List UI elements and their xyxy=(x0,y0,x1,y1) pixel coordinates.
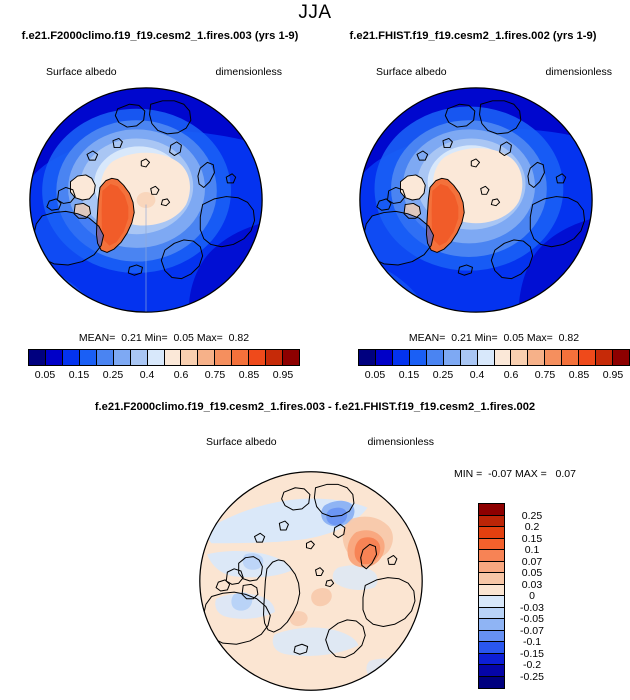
colorbar-band xyxy=(613,350,629,365)
panel-left: Surface albedo dimensionless xyxy=(28,66,300,314)
colorbar-band xyxy=(266,350,283,365)
colorbar-tick-label: 0.05 xyxy=(35,369,55,381)
panel-left-units-label: dimensionless xyxy=(215,66,282,78)
colorbar-tick-label: -0.2 xyxy=(509,659,555,671)
colorbar-band xyxy=(29,350,46,365)
colorbar-band xyxy=(80,350,97,365)
panel-difference: Surface albedo dimensionless xyxy=(190,436,440,692)
colorbar-tick-label: 0.75 xyxy=(535,369,555,381)
colorbar-left-ticks: 0.050.150.250.40.60.750.850.95 xyxy=(28,369,300,384)
colorbar-tick-label: 0.15 xyxy=(509,533,555,545)
colorbar-tick-label: 0.85 xyxy=(569,369,589,381)
colorbar-left[interactable] xyxy=(28,349,300,366)
map-difference[interactable] xyxy=(198,470,440,692)
colorbar-band xyxy=(215,350,232,365)
case-title-left: f.e21.F2000climo.f19_f19.cesm2_1.fires.0… xyxy=(2,30,318,42)
colorbar-tick-label: 0.2 xyxy=(509,521,555,533)
colorbar-band xyxy=(479,585,504,597)
colorbar-band xyxy=(461,350,478,365)
map-right-svg xyxy=(358,86,594,314)
colorbar-tick-label: 0.15 xyxy=(399,369,419,381)
colorbar-tick-label: 0.1 xyxy=(509,544,555,556)
colorbar-band xyxy=(479,665,504,677)
colorbar-tick-label: -0.15 xyxy=(509,648,555,660)
panel-left-variable-label: Surface albedo xyxy=(46,66,117,78)
panel-diff-variable-label: Surface albedo xyxy=(206,436,277,448)
colorbar-tick-label: 0.25 xyxy=(509,510,555,522)
colorbar-band xyxy=(479,539,504,551)
colorbar-band xyxy=(479,642,504,654)
colorbar-tick-label: 0.95 xyxy=(273,369,293,381)
panel-right-variable-label: Surface albedo xyxy=(376,66,447,78)
map-left[interactable] xyxy=(28,86,300,314)
colorbar-right[interactable] xyxy=(358,349,630,366)
colorbar-band xyxy=(393,350,410,365)
stats-left: MEAN= 0.21 Min= 0.05 Max= 0.82 xyxy=(28,332,300,344)
colorbar-tick-label: 0.05 xyxy=(365,369,385,381)
colorbar-tick-label: 0.75 xyxy=(205,369,225,381)
colorbar-band xyxy=(376,350,393,365)
map-left-svg xyxy=(28,86,264,314)
colorbar-band xyxy=(528,350,545,365)
colorbar-band xyxy=(63,350,80,365)
colorbar-band xyxy=(479,631,504,643)
colorbar-band xyxy=(479,527,504,539)
colorbar-tick-label: 0.4 xyxy=(140,369,155,381)
colorbar-band xyxy=(46,350,63,365)
colorbar-tick-label: -0.1 xyxy=(509,636,555,648)
colorbar-tick-label: 0.03 xyxy=(509,579,555,591)
colorbar-band xyxy=(511,350,528,365)
colorbar-band xyxy=(545,350,562,365)
season-title: JJA xyxy=(0,2,630,24)
stats-right: MEAN= 0.21 Min= 0.05 Max= 0.82 xyxy=(358,332,630,344)
colorbar-tick-label: 0.25 xyxy=(433,369,453,381)
colorbar-band xyxy=(114,350,131,365)
panel-right-head: Surface albedo dimensionless xyxy=(358,66,630,82)
colorbar-group-left: MEAN= 0.21 Min= 0.05 Max= 0.82 0.050.150… xyxy=(28,332,300,384)
difference-title: f.e21.F2000climo.f19_f19.cesm2_1.fires.0… xyxy=(0,401,630,413)
colorbar-tick-label: 0.85 xyxy=(239,369,259,381)
colorbar-band xyxy=(579,350,596,365)
colorbar-tick-label: 0.4 xyxy=(470,369,485,381)
colorbar-tick-label: -0.05 xyxy=(509,613,555,625)
colorbar-group-right: MEAN= 0.21 Min= 0.05 Max= 0.82 0.050.150… xyxy=(358,332,630,384)
colorbar-band xyxy=(479,550,504,562)
colorbar-band xyxy=(131,350,148,365)
panel-right-units-label: dimensionless xyxy=(545,66,612,78)
colorbar-band xyxy=(479,504,504,516)
colorbar-band xyxy=(198,350,215,365)
colorbar-band xyxy=(495,350,512,365)
colorbar-tick-label: 0.6 xyxy=(504,369,519,381)
panel-diff-units-label: dimensionless xyxy=(367,436,434,448)
colorbar-right-ticks: 0.050.150.250.40.60.750.850.95 xyxy=(358,369,630,384)
colorbar-band xyxy=(249,350,266,365)
colorbar-tick-label: -0.07 xyxy=(509,625,555,637)
colorbar-band xyxy=(479,608,504,620)
colorbar-band xyxy=(359,350,376,365)
colorbar-band xyxy=(479,562,504,574)
colorbar-band xyxy=(427,350,444,365)
colorbar-tick-label: 0 xyxy=(509,590,555,602)
colorbar-tick-label: 0.07 xyxy=(509,556,555,568)
colorbar-band xyxy=(479,573,504,585)
colorbar-band xyxy=(479,654,504,666)
colorbar-band xyxy=(596,350,613,365)
colorbar-band xyxy=(479,677,504,689)
panel-diff-head: Surface albedo dimensionless xyxy=(190,436,440,452)
colorbar-tick-label: -0.25 xyxy=(509,671,555,683)
colorbar-band xyxy=(410,350,427,365)
colorbar-band xyxy=(165,350,182,365)
colorbar-group-difference: 0.250.20.150.10.070.050.030-0.03-0.05-0.… xyxy=(478,503,505,689)
colorbar-tick-label: 0.6 xyxy=(174,369,189,381)
panel-left-head: Surface albedo dimensionless xyxy=(28,66,300,82)
colorbar-band xyxy=(479,596,504,608)
colorbar-tick-label: 0.95 xyxy=(603,369,623,381)
colorbar-band xyxy=(479,619,504,631)
colorbar-difference[interactable] xyxy=(478,503,505,689)
colorbar-band xyxy=(562,350,579,365)
colorbar-band xyxy=(444,350,461,365)
colorbar-band xyxy=(479,516,504,528)
colorbar-tick-label: 0.25 xyxy=(103,369,123,381)
colorbar-band xyxy=(283,350,299,365)
map-difference-svg xyxy=(198,470,424,692)
panel-right: Surface albedo dimensionless xyxy=(358,66,630,314)
colorbar-tick-label: 0.15 xyxy=(69,369,89,381)
map-right[interactable] xyxy=(358,86,630,314)
colorbar-band xyxy=(97,350,114,365)
colorbar-band xyxy=(181,350,198,365)
colorbar-band xyxy=(232,350,249,365)
colorbar-band xyxy=(478,350,495,365)
colorbar-tick-label: 0.05 xyxy=(509,567,555,579)
difference-minmax-text: MIN = -0.07 MAX = 0.07 xyxy=(420,468,610,480)
colorbar-band xyxy=(148,350,165,365)
colorbar-tick-label: -0.03 xyxy=(509,602,555,614)
case-title-right: f.e21.FHIST.f19_f19.cesm2_1.fires.002 (y… xyxy=(318,30,628,42)
